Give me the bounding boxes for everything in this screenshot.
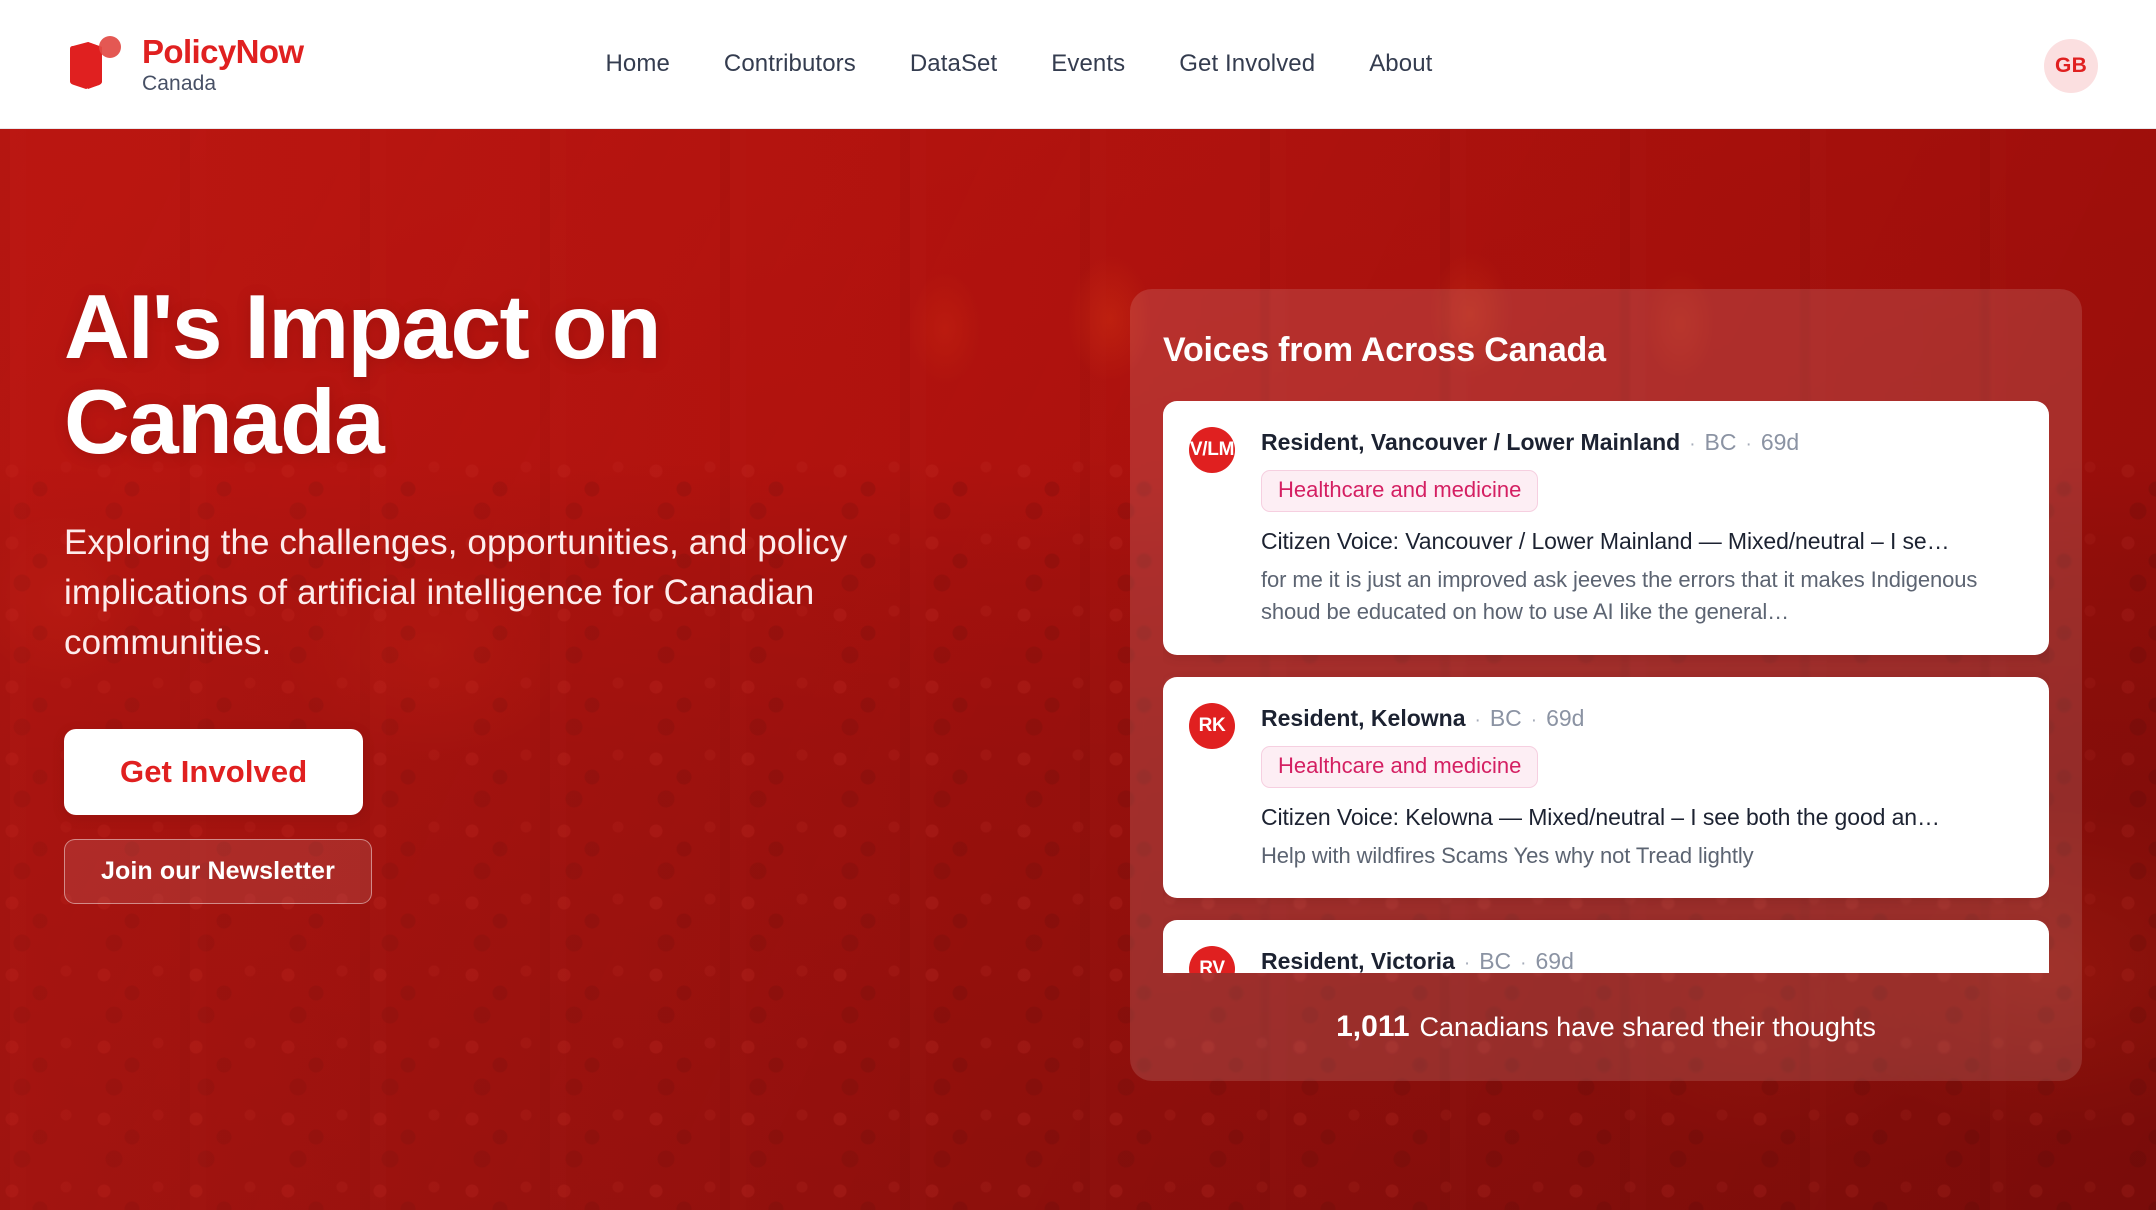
brand-name: PolicyNow xyxy=(142,34,303,70)
hero-subtitle: Exploring the challenges, opportunities,… xyxy=(64,518,994,667)
voices-scroll-container[interactable]: V/LM Resident, Vancouver / Lower Mainlan… xyxy=(1163,401,2049,973)
hero-content: AI's Impact on Canada Exploring the chal… xyxy=(64,281,1064,904)
list-item[interactable]: V/LM Resident, Vancouver / Lower Mainlan… xyxy=(1163,401,2049,655)
join-newsletter-button[interactable]: Join our Newsletter xyxy=(64,839,372,904)
avatar: V/LM xyxy=(1189,427,1235,473)
voice-age: 69d xyxy=(1761,429,1799,456)
brand-subtitle: Canada xyxy=(142,73,303,94)
voice-age: 69d xyxy=(1546,705,1584,732)
voice-excerpt: Help with wildfires Scams Yes why not Tr… xyxy=(1261,840,2021,872)
nav-item-about[interactable]: About xyxy=(1342,40,1459,88)
voices-footer-label: Canadians have shared their thoughts xyxy=(1420,1012,1876,1043)
status-badge: Healthcare and medicine xyxy=(1261,746,1538,788)
voice-excerpt: for me it is just an improved ask jeeves… xyxy=(1261,564,2021,629)
voices-count: 1,011 xyxy=(1336,1010,1409,1044)
voice-headline: Citizen Voice: Kelowna — Mixed/neutral –… xyxy=(1261,804,2021,831)
brand-logo[interactable]: PolicyNow Canada xyxy=(66,33,303,95)
nav-item-get-involved[interactable]: Get Involved xyxy=(1152,40,1342,88)
voice-author: Resident, Kelowna xyxy=(1261,705,1465,732)
list-item[interactable]: RK Resident, Kelowna · BC · 69d Healthca… xyxy=(1163,677,2049,898)
separator-dot: · xyxy=(1531,710,1537,732)
voices-footer: 1,011 Canadians have shared their though… xyxy=(1130,973,2082,1081)
separator-dot: · xyxy=(1689,434,1695,456)
site-header: PolicyNow Canada Home Contributors DataS… xyxy=(0,0,2156,129)
main-navigation: Home Contributors DataSet Events Get Inv… xyxy=(578,40,1459,88)
voice-region: BC xyxy=(1490,705,1522,732)
get-involved-button[interactable]: Get Involved xyxy=(64,729,363,815)
voice-meta: Resident, Vancouver / Lower Mainland · B… xyxy=(1261,429,2021,456)
voices-panel: Voices from Across Canada V/LM Resident,… xyxy=(1130,289,2082,1081)
voice-meta: Resident, Victoria · BC · 69d xyxy=(1261,948,2021,973)
separator-dot: · xyxy=(1520,953,1526,973)
list-item[interactable]: RV Resident, Victoria · BC · 69d Not sur… xyxy=(1163,920,2049,973)
voice-age: 69d xyxy=(1535,948,1573,973)
voice-meta: Resident, Kelowna · BC · 69d xyxy=(1261,705,2021,732)
nav-item-dataset[interactable]: DataSet xyxy=(883,40,1024,88)
separator-dot: · xyxy=(1746,434,1752,456)
separator-dot: · xyxy=(1474,710,1480,732)
nav-item-events[interactable]: Events xyxy=(1024,40,1152,88)
avatar[interactable]: GB xyxy=(2044,39,2098,93)
hero-section: AI's Impact on Canada Exploring the chal… xyxy=(0,129,2156,1210)
nav-item-contributors[interactable]: Contributors xyxy=(697,40,883,88)
voices-panel-title: Voices from Across Canada xyxy=(1130,289,2082,370)
voice-region: BC xyxy=(1705,429,1737,456)
hero-actions: Get Involved Join our Newsletter xyxy=(64,729,1064,904)
separator-dot: · xyxy=(1464,953,1470,973)
page-title: AI's Impact on Canada xyxy=(64,281,894,470)
voice-region: BC xyxy=(1479,948,1511,973)
voice-author: Resident, Victoria xyxy=(1261,948,1455,973)
voice-headline: Citizen Voice: Vancouver / Lower Mainlan… xyxy=(1261,528,2021,555)
avatar: RK xyxy=(1189,703,1235,749)
nav-item-home[interactable]: Home xyxy=(578,40,696,88)
voice-author: Resident, Vancouver / Lower Mainland xyxy=(1261,429,1680,456)
map-bookmark-icon xyxy=(66,33,126,95)
status-badge: Healthcare and medicine xyxy=(1261,470,1538,512)
